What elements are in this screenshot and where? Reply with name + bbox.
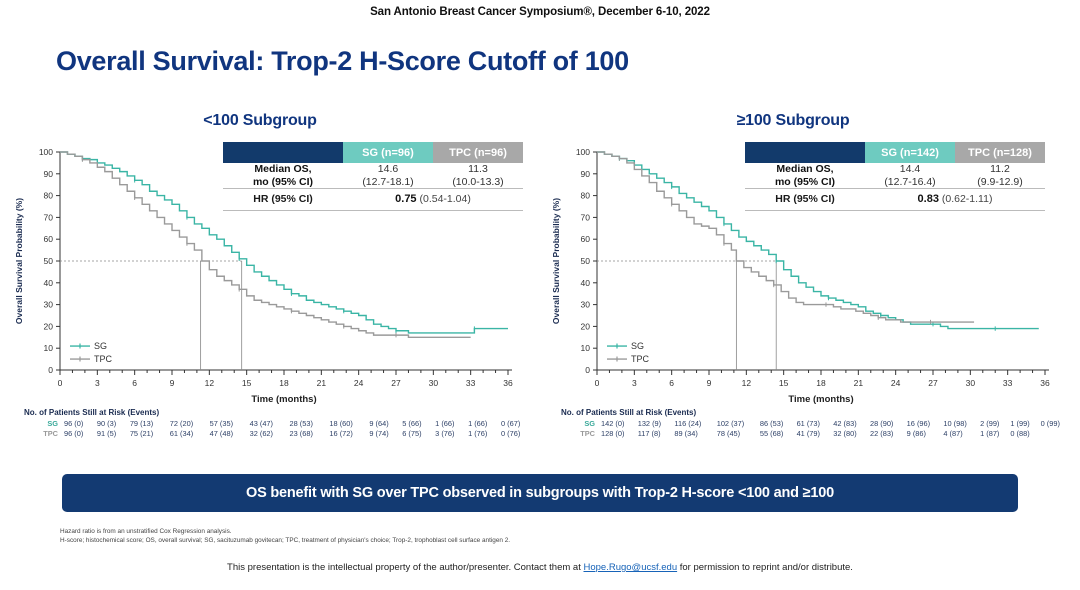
risk-table-gte100: No. of Patients Still at Risk (Events) S… bbox=[561, 408, 1071, 439]
x-tick-label: 15 bbox=[779, 378, 789, 388]
risk-cell: 0 (88) bbox=[1010, 429, 1040, 439]
risk-cell: 0 (76) bbox=[501, 429, 534, 439]
km-chart-svg-lt100: 0102030405060708090100036912151821242730… bbox=[8, 138, 528, 418]
y-tick-label: 0 bbox=[585, 365, 590, 375]
y-tick-label: 20 bbox=[581, 321, 591, 331]
risk-cell: 86 (53) bbox=[760, 419, 797, 429]
risk-cell: 132 (9) bbox=[638, 419, 675, 429]
y-tick-label: 50 bbox=[581, 256, 591, 266]
risk-cell: 1 (99) bbox=[1010, 419, 1040, 429]
risk-cell: 89 (34) bbox=[674, 429, 716, 439]
risk-cell: 3 (76) bbox=[435, 429, 468, 439]
risk-row-label: TPC bbox=[561, 429, 601, 439]
risk-cell: 72 (20) bbox=[170, 419, 210, 429]
x-tick-label: 33 bbox=[1003, 378, 1013, 388]
y-tick-label: 80 bbox=[581, 191, 591, 201]
risk-cell: 28 (53) bbox=[290, 419, 330, 429]
risk-cell: 61 (73) bbox=[797, 419, 834, 429]
risk-cell: 9 (86) bbox=[907, 429, 944, 439]
copyright-suffix: for permission to reprint and/or distrib… bbox=[677, 562, 853, 573]
risk-cell: 47 (48) bbox=[210, 429, 250, 439]
y-tick-label: 70 bbox=[581, 212, 591, 222]
x-tick-label: 12 bbox=[742, 378, 752, 388]
risk-cell: 91 (5) bbox=[97, 429, 130, 439]
x-tick-label: 6 bbox=[132, 378, 137, 388]
risk-cell: 42 (83) bbox=[833, 419, 870, 429]
legend-label-tpc: TPC bbox=[631, 354, 650, 364]
panel-title-gte100: ≥100 Subgroup bbox=[573, 112, 1013, 130]
x-tick-label: 21 bbox=[317, 378, 327, 388]
x-tick-label: 18 bbox=[816, 378, 826, 388]
risk-cell bbox=[1041, 429, 1071, 439]
footnote-line-2: H-score; histochemical score; OS, overal… bbox=[60, 537, 510, 546]
x-tick-label: 27 bbox=[928, 378, 938, 388]
km-curve-sg bbox=[597, 152, 1039, 329]
x-axis-title: Time (months) bbox=[251, 394, 316, 405]
panel-lt100: <100 Subgroup SG (n=96) TPC (n=96) Media… bbox=[8, 112, 528, 462]
risk-cell: 90 (3) bbox=[97, 419, 130, 429]
km-chart-gte100: 0102030405060708090100036912151821242730… bbox=[545, 138, 1065, 418]
y-tick-label: 50 bbox=[44, 256, 54, 266]
risk-cell: 1 (87) bbox=[980, 429, 1010, 439]
risk-cell: 22 (83) bbox=[870, 429, 907, 439]
copyright-prefix: This presentation is the intellectual pr… bbox=[227, 562, 583, 573]
y-axis-title: Overall Survival Probability (%) bbox=[14, 198, 24, 324]
risk-cell: 10 (98) bbox=[943, 419, 980, 429]
x-tick-label: 33 bbox=[466, 378, 476, 388]
y-tick-label: 40 bbox=[581, 278, 591, 288]
km-curve-tpc bbox=[60, 152, 471, 337]
y-tick-label: 70 bbox=[44, 212, 54, 222]
risk-table-title: No. of Patients Still at Risk (Events) bbox=[561, 408, 1071, 417]
risk-table-body: SG96 (0)90 (3)79 (13)72 (20)57 (35)43 (4… bbox=[24, 419, 534, 439]
risk-row-label: SG bbox=[24, 419, 64, 429]
y-tick-label: 10 bbox=[581, 343, 591, 353]
risk-table-body: SG142 (0)132 (9)116 (24)102 (37)86 (53)6… bbox=[561, 419, 1071, 439]
risk-cell: 32 (62) bbox=[250, 429, 290, 439]
x-tick-label: 27 bbox=[391, 378, 401, 388]
x-tick-label: 3 bbox=[95, 378, 100, 388]
x-tick-label: 9 bbox=[170, 378, 175, 388]
panel-title-lt100: <100 Subgroup bbox=[50, 112, 470, 130]
y-tick-label: 10 bbox=[44, 343, 54, 353]
x-tick-label: 36 bbox=[1040, 378, 1050, 388]
y-tick-label: 60 bbox=[44, 234, 54, 244]
risk-cell: 32 (80) bbox=[833, 429, 870, 439]
legend-label-sg: SG bbox=[94, 341, 107, 351]
risk-cell: 61 (34) bbox=[170, 429, 210, 439]
risk-rows-gte100: SG142 (0)132 (9)116 (24)102 (37)86 (53)6… bbox=[561, 419, 1071, 439]
risk-cell: 4 (87) bbox=[943, 429, 980, 439]
risk-cell: 117 (8) bbox=[638, 429, 675, 439]
footnote-line-1: Hazard ratio is from an unstratified Cox… bbox=[60, 528, 510, 537]
risk-cell: 128 (0) bbox=[601, 429, 638, 439]
page-title: Overall Survival: Trop-2 H-Score Cutoff … bbox=[56, 46, 629, 77]
risk-cell: 1 (66) bbox=[435, 419, 468, 429]
y-tick-label: 30 bbox=[44, 300, 54, 310]
y-tick-label: 40 bbox=[44, 278, 54, 288]
risk-cell: 116 (24) bbox=[674, 419, 716, 429]
y-axis-title: Overall Survival Probability (%) bbox=[551, 198, 561, 324]
y-tick-label: 90 bbox=[581, 169, 591, 179]
risk-cell: 5 (66) bbox=[402, 419, 435, 429]
risk-cell: 16 (96) bbox=[907, 419, 944, 429]
x-tick-label: 36 bbox=[503, 378, 513, 388]
risk-cell: 28 (90) bbox=[870, 419, 907, 429]
km-chart-lt100: 0102030405060708090100036912151821242730… bbox=[8, 138, 528, 418]
conclusion-banner: OS benefit with SG over TPC observed in … bbox=[62, 474, 1018, 512]
risk-row: SG142 (0)132 (9)116 (24)102 (37)86 (53)6… bbox=[561, 419, 1071, 429]
risk-cell: 55 (68) bbox=[760, 429, 797, 439]
risk-cell: 0 (99) bbox=[1041, 419, 1071, 429]
risk-cell: 96 (0) bbox=[64, 429, 97, 439]
y-tick-label: 100 bbox=[576, 147, 590, 157]
x-tick-label: 9 bbox=[707, 378, 712, 388]
risk-cell: 79 (13) bbox=[130, 419, 170, 429]
legend-label-sg: SG bbox=[631, 341, 644, 351]
risk-cell: 1 (66) bbox=[468, 419, 501, 429]
x-tick-label: 0 bbox=[595, 378, 600, 388]
x-tick-label: 18 bbox=[279, 378, 289, 388]
x-tick-label: 6 bbox=[669, 378, 674, 388]
risk-row: SG96 (0)90 (3)79 (13)72 (20)57 (35)43 (4… bbox=[24, 419, 534, 429]
risk-cell: 78 (45) bbox=[717, 429, 760, 439]
risk-cell: 102 (37) bbox=[717, 419, 760, 429]
risk-cell: 18 (60) bbox=[329, 419, 369, 429]
legend-label-tpc: TPC bbox=[94, 354, 113, 364]
x-tick-label: 30 bbox=[966, 378, 976, 388]
panel-gte100: ≥100 Subgroup SG (n=142) TPC (n=128) Med… bbox=[545, 112, 1065, 462]
risk-cell: 57 (35) bbox=[210, 419, 250, 429]
x-tick-label: 15 bbox=[242, 378, 252, 388]
y-tick-label: 60 bbox=[581, 234, 591, 244]
slide-root: San Antonio Breast Cancer Symposium®, De… bbox=[0, 0, 1080, 590]
risk-cell: 1 (76) bbox=[468, 429, 501, 439]
risk-row-label: TPC bbox=[24, 429, 64, 439]
risk-cell: 6 (75) bbox=[402, 429, 435, 439]
risk-table-title: No. of Patients Still at Risk (Events) bbox=[24, 408, 534, 417]
risk-cell: 96 (0) bbox=[64, 419, 97, 429]
copyright-notice: This presentation is the intellectual pr… bbox=[0, 562, 1080, 573]
y-tick-label: 90 bbox=[44, 169, 54, 179]
risk-cell: 75 (21) bbox=[130, 429, 170, 439]
risk-row: TPC128 (0)117 (8)89 (34)78 (45)55 (68)41… bbox=[561, 429, 1071, 439]
risk-cell: 16 (72) bbox=[329, 429, 369, 439]
x-tick-label: 30 bbox=[429, 378, 439, 388]
x-tick-label: 12 bbox=[205, 378, 215, 388]
conference-header: San Antonio Breast Cancer Symposium®, De… bbox=[0, 6, 1080, 18]
x-tick-label: 24 bbox=[354, 378, 364, 388]
contact-email-link[interactable]: Hope.Rugo@ucsf.edu bbox=[583, 562, 677, 573]
y-tick-label: 20 bbox=[44, 321, 54, 331]
risk-cell: 41 (79) bbox=[797, 429, 834, 439]
risk-cell: 9 (74) bbox=[369, 429, 402, 439]
y-tick-label: 30 bbox=[581, 300, 591, 310]
km-chart-svg-gte100: 0102030405060708090100036912151821242730… bbox=[545, 138, 1065, 418]
risk-cell: 23 (68) bbox=[290, 429, 330, 439]
x-tick-label: 0 bbox=[58, 378, 63, 388]
risk-cell: 43 (47) bbox=[250, 419, 290, 429]
risk-cell: 2 (99) bbox=[980, 419, 1010, 429]
risk-row-label: SG bbox=[561, 419, 601, 429]
km-curve-tpc bbox=[597, 152, 974, 322]
footnotes: Hazard ratio is from an unstratified Cox… bbox=[60, 528, 510, 545]
risk-cell: 142 (0) bbox=[601, 419, 638, 429]
risk-row: TPC96 (0)91 (5)75 (21)61 (34)47 (48)32 (… bbox=[24, 429, 534, 439]
km-curve-sg bbox=[60, 152, 508, 333]
risk-cell: 9 (64) bbox=[369, 419, 402, 429]
x-tick-label: 21 bbox=[854, 378, 864, 388]
x-tick-label: 3 bbox=[632, 378, 637, 388]
y-tick-label: 80 bbox=[44, 191, 54, 201]
risk-rows-lt100: SG96 (0)90 (3)79 (13)72 (20)57 (35)43 (4… bbox=[24, 419, 534, 439]
x-axis-title: Time (months) bbox=[788, 394, 853, 405]
y-tick-label: 0 bbox=[48, 365, 53, 375]
x-tick-label: 24 bbox=[891, 378, 901, 388]
risk-table-lt100: No. of Patients Still at Risk (Events) S… bbox=[24, 408, 534, 439]
risk-cell: 0 (67) bbox=[501, 419, 534, 429]
y-tick-label: 100 bbox=[39, 147, 53, 157]
